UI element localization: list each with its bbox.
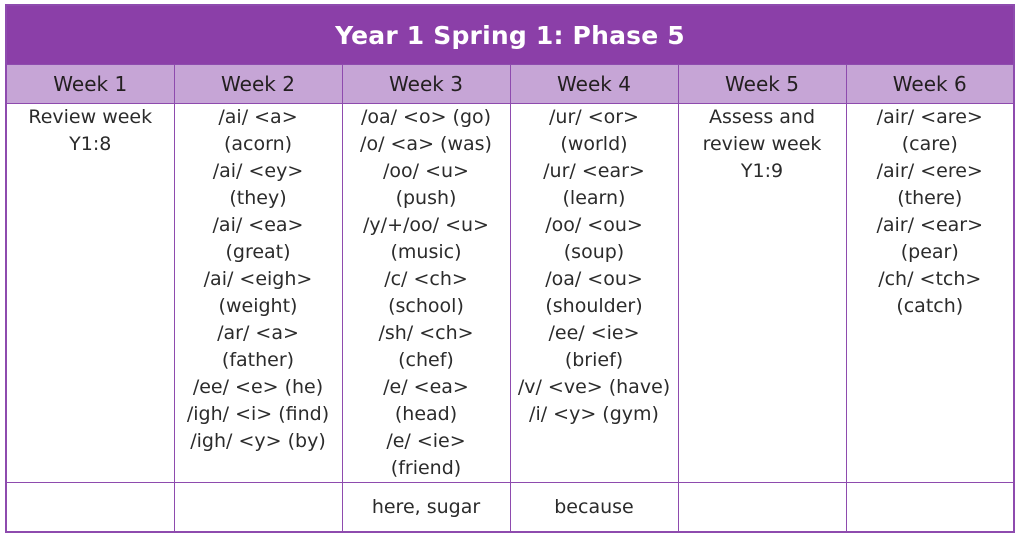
grapheme-line: (care) [847,131,1014,158]
grapheme-line: (brief) [511,347,678,374]
grapheme-line: (acorn) [175,131,342,158]
grapheme-line: (there) [847,185,1014,212]
grapheme-line: Review week [7,104,174,131]
grapheme-line: /oa/ <o> (go) [343,104,510,131]
grapheme-line: /ai/ <ey> [175,158,342,185]
column-header-week-3: Week 3 [342,65,510,104]
content-cell-week-5: Assess andreview weekY1:9 [678,104,846,483]
grapheme-line: /ai/ <ea> [175,212,342,239]
content-row: Review weekY1:8 /ai/ <a>(acorn)/ai/ <ey>… [6,104,1014,483]
grapheme-line: (world) [511,131,678,158]
grapheme-line: (music) [343,239,510,266]
grapheme-line: (catch) [847,293,1014,320]
grapheme-line: /air/ <ere> [847,158,1014,185]
grapheme-line: /y/+/oo/ <u> [343,212,510,239]
content-cell-week-2: /ai/ <a>(acorn)/ai/ <ey>(they)/ai/ <ea>(… [174,104,342,483]
content-cell-week-1: Review weekY1:8 [6,104,174,483]
grapheme-line: /ar/ <a> [175,320,342,347]
grapheme-line: /ee/ <ie> [511,320,678,347]
grapheme-line: /e/ <ea> [343,374,510,401]
grapheme-line: (weight) [175,293,342,320]
grapheme-line: /oo/ <u> [343,158,510,185]
tricky-words-week-4: because [510,483,678,533]
grapheme-line: /sh/ <ch> [343,320,510,347]
content-cell-week-3: /oa/ <o> (go)/o/ <a> (was)/oo/ <u>(push)… [342,104,510,483]
grapheme-line: /oa/ <ou> [511,266,678,293]
grapheme-line: /air/ <ear> [847,212,1014,239]
column-header-week-2: Week 2 [174,65,342,104]
grapheme-line: /ee/ <e> (he) [175,374,342,401]
grapheme-line: (pear) [847,239,1014,266]
grapheme-line: (push) [343,185,510,212]
grapheme-line: Y1:9 [679,158,846,185]
grapheme-line: /air/ <are> [847,104,1014,131]
grapheme-line: (friend) [343,455,510,482]
grapheme-line: /igh/ <y> (by) [175,428,342,455]
column-header-week-1: Week 1 [6,65,174,104]
grapheme-line: Y1:8 [7,131,174,158]
grapheme-line: /ch/ <tch> [847,266,1014,293]
grapheme-line: /e/ <ie> [343,428,510,455]
grapheme-line: (they) [175,185,342,212]
tricky-words-row: here, sugar because [6,483,1014,533]
grapheme-line: (great) [175,239,342,266]
tricky-words-week-6 [846,483,1014,533]
column-header-week-4: Week 4 [510,65,678,104]
grapheme-line: /oo/ <ou> [511,212,678,239]
grapheme-line: review week [679,131,846,158]
grapheme-line: (chef) [343,347,510,374]
tricky-words-week-2 [174,483,342,533]
grapheme-line: (learn) [511,185,678,212]
column-header-week-6: Week 6 [846,65,1014,104]
phonics-table-container: Year 1 Spring 1: Phase 5 Week 1 Week 2 W… [0,0,1020,539]
grapheme-line: /i/ <y> (gym) [511,401,678,428]
grapheme-line: (school) [343,293,510,320]
phonics-curriculum-table: Year 1 Spring 1: Phase 5 Week 1 Week 2 W… [5,4,1015,533]
grapheme-line: /ur/ <or> [511,104,678,131]
tricky-words-week-5 [678,483,846,533]
table-title: Year 1 Spring 1: Phase 5 [6,5,1014,65]
grapheme-line: (soup) [511,239,678,266]
grapheme-line: /ai/ <a> [175,104,342,131]
column-header-week-5: Week 5 [678,65,846,104]
grapheme-line: /c/ <ch> [343,266,510,293]
content-cell-week-6: /air/ <are>(care)/air/ <ere>(there)/air/… [846,104,1014,483]
title-row: Year 1 Spring 1: Phase 5 [6,5,1014,65]
grapheme-line: (head) [343,401,510,428]
tricky-words-week-3: here, sugar [342,483,510,533]
grapheme-line: (shoulder) [511,293,678,320]
grapheme-line: Assess and [679,104,846,131]
content-cell-week-4: /ur/ <or>(world)/ur/ <ear>(learn)/oo/ <o… [510,104,678,483]
tricky-words-week-1 [6,483,174,533]
week-header-row: Week 1 Week 2 Week 3 Week 4 Week 5 Week … [6,65,1014,104]
grapheme-line: /igh/ <i> (find) [175,401,342,428]
grapheme-line: /v/ <ve> (have) [511,374,678,401]
grapheme-line: /o/ <a> (was) [343,131,510,158]
grapheme-line: /ur/ <ear> [511,158,678,185]
grapheme-line: (father) [175,347,342,374]
grapheme-line: /ai/ <eigh> [175,266,342,293]
